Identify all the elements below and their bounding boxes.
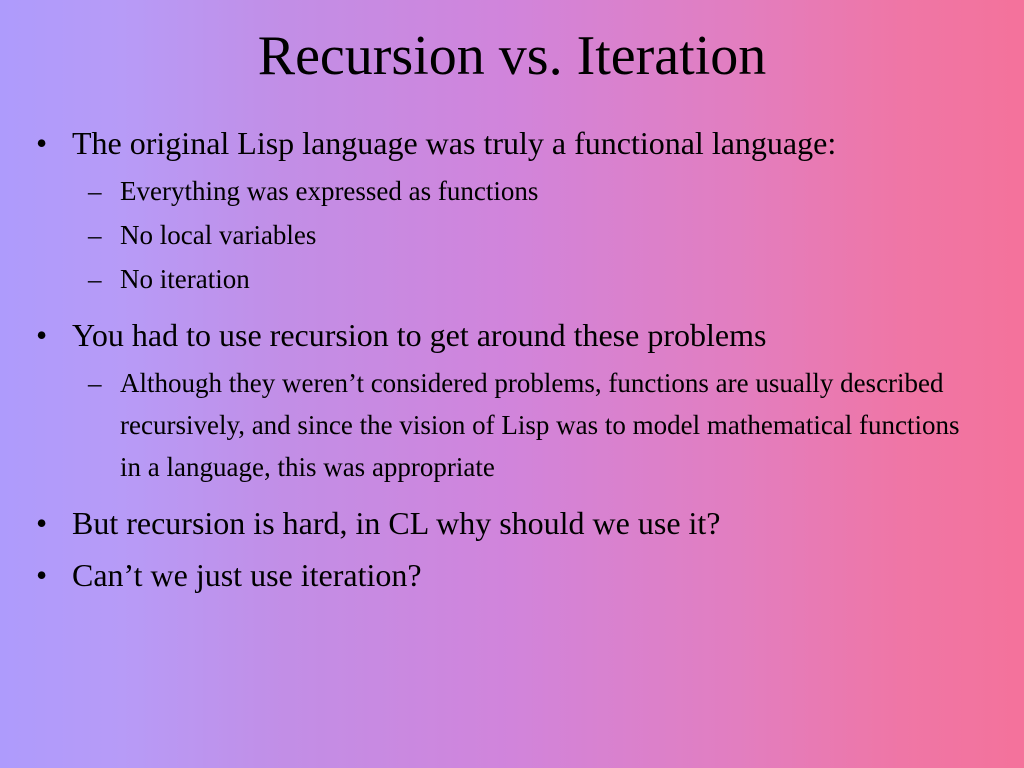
dash-marker-icon: – bbox=[88, 214, 102, 256]
bullet-item: • But recursion is hard, in CL why shoul… bbox=[0, 498, 1024, 548]
sub-bullet-text: No iteration bbox=[120, 264, 250, 294]
bullet-item: • You had to use recursion to get around… bbox=[0, 310, 1024, 360]
slide-body: • The original Lisp language was truly a… bbox=[0, 118, 1024, 602]
bullet-marker-icon: • bbox=[36, 498, 47, 548]
bullet-text: Can’t we just use iteration? bbox=[72, 557, 422, 593]
sub-bullet-group: – Although they weren’t considered probl… bbox=[0, 362, 1024, 488]
bullet-marker-icon: • bbox=[36, 310, 47, 360]
bullet-marker-icon: • bbox=[36, 118, 47, 168]
bullet-text: But recursion is hard, in CL why should … bbox=[72, 505, 721, 541]
dash-marker-icon: – bbox=[88, 170, 102, 212]
sub-bullet-group: – Everything was expressed as functions … bbox=[0, 170, 1024, 300]
bullet-marker-icon: • bbox=[36, 550, 47, 600]
sub-bullet-text: No local variables bbox=[120, 220, 316, 250]
sub-bullet-item: – No local variables bbox=[0, 214, 1024, 256]
bullet-text: The original Lisp language was truly a f… bbox=[72, 125, 836, 161]
bullet-item: • Can’t we just use iteration? bbox=[0, 550, 1024, 600]
sub-bullet-item: – Although they weren’t considered probl… bbox=[0, 362, 1024, 488]
dash-marker-icon: – bbox=[88, 362, 102, 404]
dash-marker-icon: – bbox=[88, 258, 102, 300]
bullet-text: You had to use recursion to get around t… bbox=[72, 317, 766, 353]
sub-bullet-item: – No iteration bbox=[0, 258, 1024, 300]
sub-bullet-text: Although they weren’t considered problem… bbox=[120, 368, 960, 482]
presentation-slide: Recursion vs. Iteration • The original L… bbox=[0, 0, 1024, 768]
slide-title: Recursion vs. Iteration bbox=[0, 24, 1024, 88]
bullet-item: • The original Lisp language was truly a… bbox=[0, 118, 1024, 168]
sub-bullet-item: – Everything was expressed as functions bbox=[0, 170, 1024, 212]
sub-bullet-text: Everything was expressed as functions bbox=[120, 176, 538, 206]
